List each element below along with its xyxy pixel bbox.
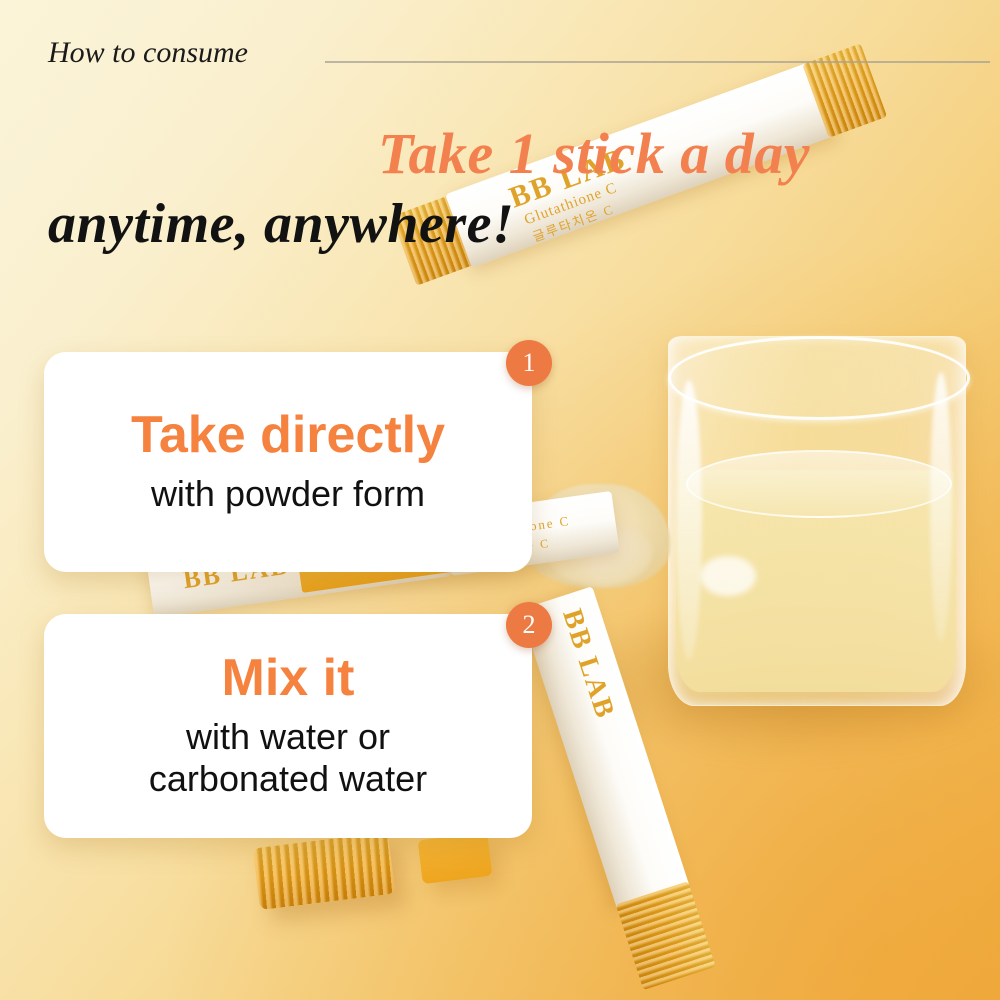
header-divider xyxy=(325,61,990,63)
step-1-title: Take directly xyxy=(131,408,445,463)
step-1-subtitle: with powder form xyxy=(151,473,425,515)
loose-stick-cap xyxy=(253,832,396,910)
promo-image: BB LAB Glutathione C 글루타치온 C BB LAB 4g B… xyxy=(0,0,1000,1000)
step-badge-2: 2 xyxy=(506,602,552,648)
step-2-subtitle-line2: carbonated water xyxy=(149,758,427,800)
glass-rim xyxy=(668,336,970,420)
step-card-1: Take directly with powder form xyxy=(44,352,532,572)
glass-highlight-left xyxy=(676,380,702,660)
step-card-2: Mix it with water or carbonated water xyxy=(44,614,532,838)
step-2-subtitle-line1: with water or xyxy=(186,716,390,758)
headline-plain: anytime, anywhere! xyxy=(48,192,514,256)
glass-bubble xyxy=(700,556,756,596)
liquid-surface xyxy=(686,450,952,518)
glass-highlight-right xyxy=(930,372,952,642)
step-2-title: Mix it xyxy=(222,651,355,706)
loose-stick-cap-secondary xyxy=(418,832,493,884)
section-eyebrow: How to consume xyxy=(48,36,248,70)
step-badge-1: 1 xyxy=(506,340,552,386)
headline-accent: Take 1 stick a day xyxy=(378,120,810,187)
